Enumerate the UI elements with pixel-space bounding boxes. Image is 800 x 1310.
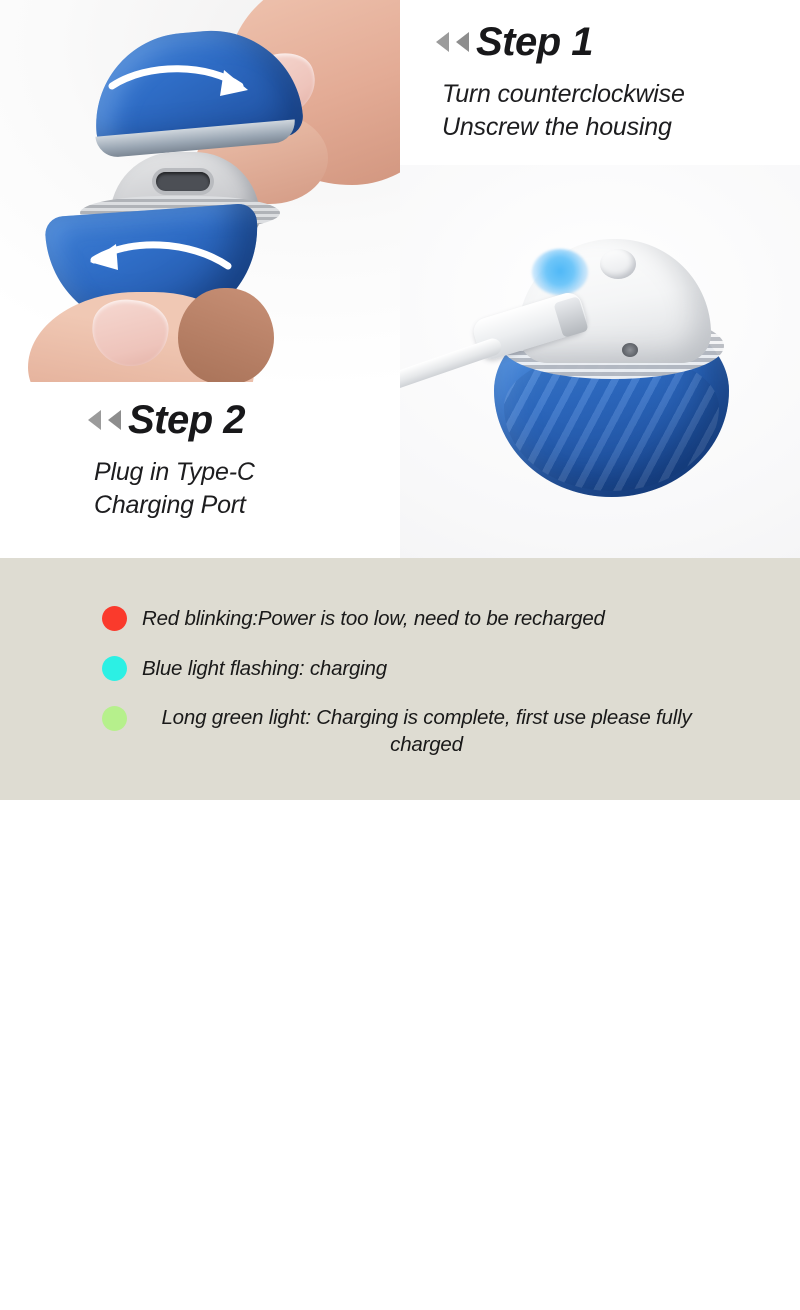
left-triangle-icon — [88, 410, 101, 430]
step-2-body: Plug in Type-C Charging Port — [94, 456, 255, 522]
led-indicator-red — [102, 606, 127, 631]
left-triangle-icon — [456, 32, 469, 52]
step-1-body: Turn counterclockwise Unscrew the housin… — [442, 78, 685, 144]
arrow-counterclockwise-icon — [62, 232, 232, 284]
legend-text-red: Red blinking:Power is too low, need to b… — [142, 606, 742, 633]
left-triangle-icon — [436, 32, 449, 52]
infographic-page: Step 1 Turn counterclockwise Unscrew the… — [0, 0, 800, 800]
lower-hand-second-finger — [178, 288, 274, 382]
led-indicator-green — [102, 706, 127, 731]
panel-step-2: Step 2 Plug in Type-C Charging Port — [0, 382, 400, 558]
led-capsule-outline — [94, 1154, 134, 1310]
led-blue-glow — [532, 249, 588, 295]
dome-screw — [622, 343, 638, 357]
photo-unscrew-ball — [0, 0, 400, 382]
step-2-heading: Step 2 — [88, 400, 245, 440]
legend-text-cyan: Blue light flashing: charging — [142, 656, 742, 683]
dome-button-nub — [600, 249, 636, 279]
arrow-clockwise-icon — [108, 60, 268, 110]
usb-c-port — [156, 172, 210, 191]
panel-step-1: Step 1 Turn counterclockwise Unscrew the… — [400, 0, 800, 165]
led-indicator-cyan — [102, 656, 127, 681]
step-1-heading: Step 1 — [436, 22, 593, 62]
left-triangle-icon — [108, 410, 121, 430]
step-2-title: Step 2 — [128, 400, 245, 440]
legend-text-green: Long green light: Charging is complete, … — [134, 705, 719, 758]
photo-charging-ball — [400, 165, 800, 558]
step-1-title: Step 1 — [476, 22, 593, 62]
